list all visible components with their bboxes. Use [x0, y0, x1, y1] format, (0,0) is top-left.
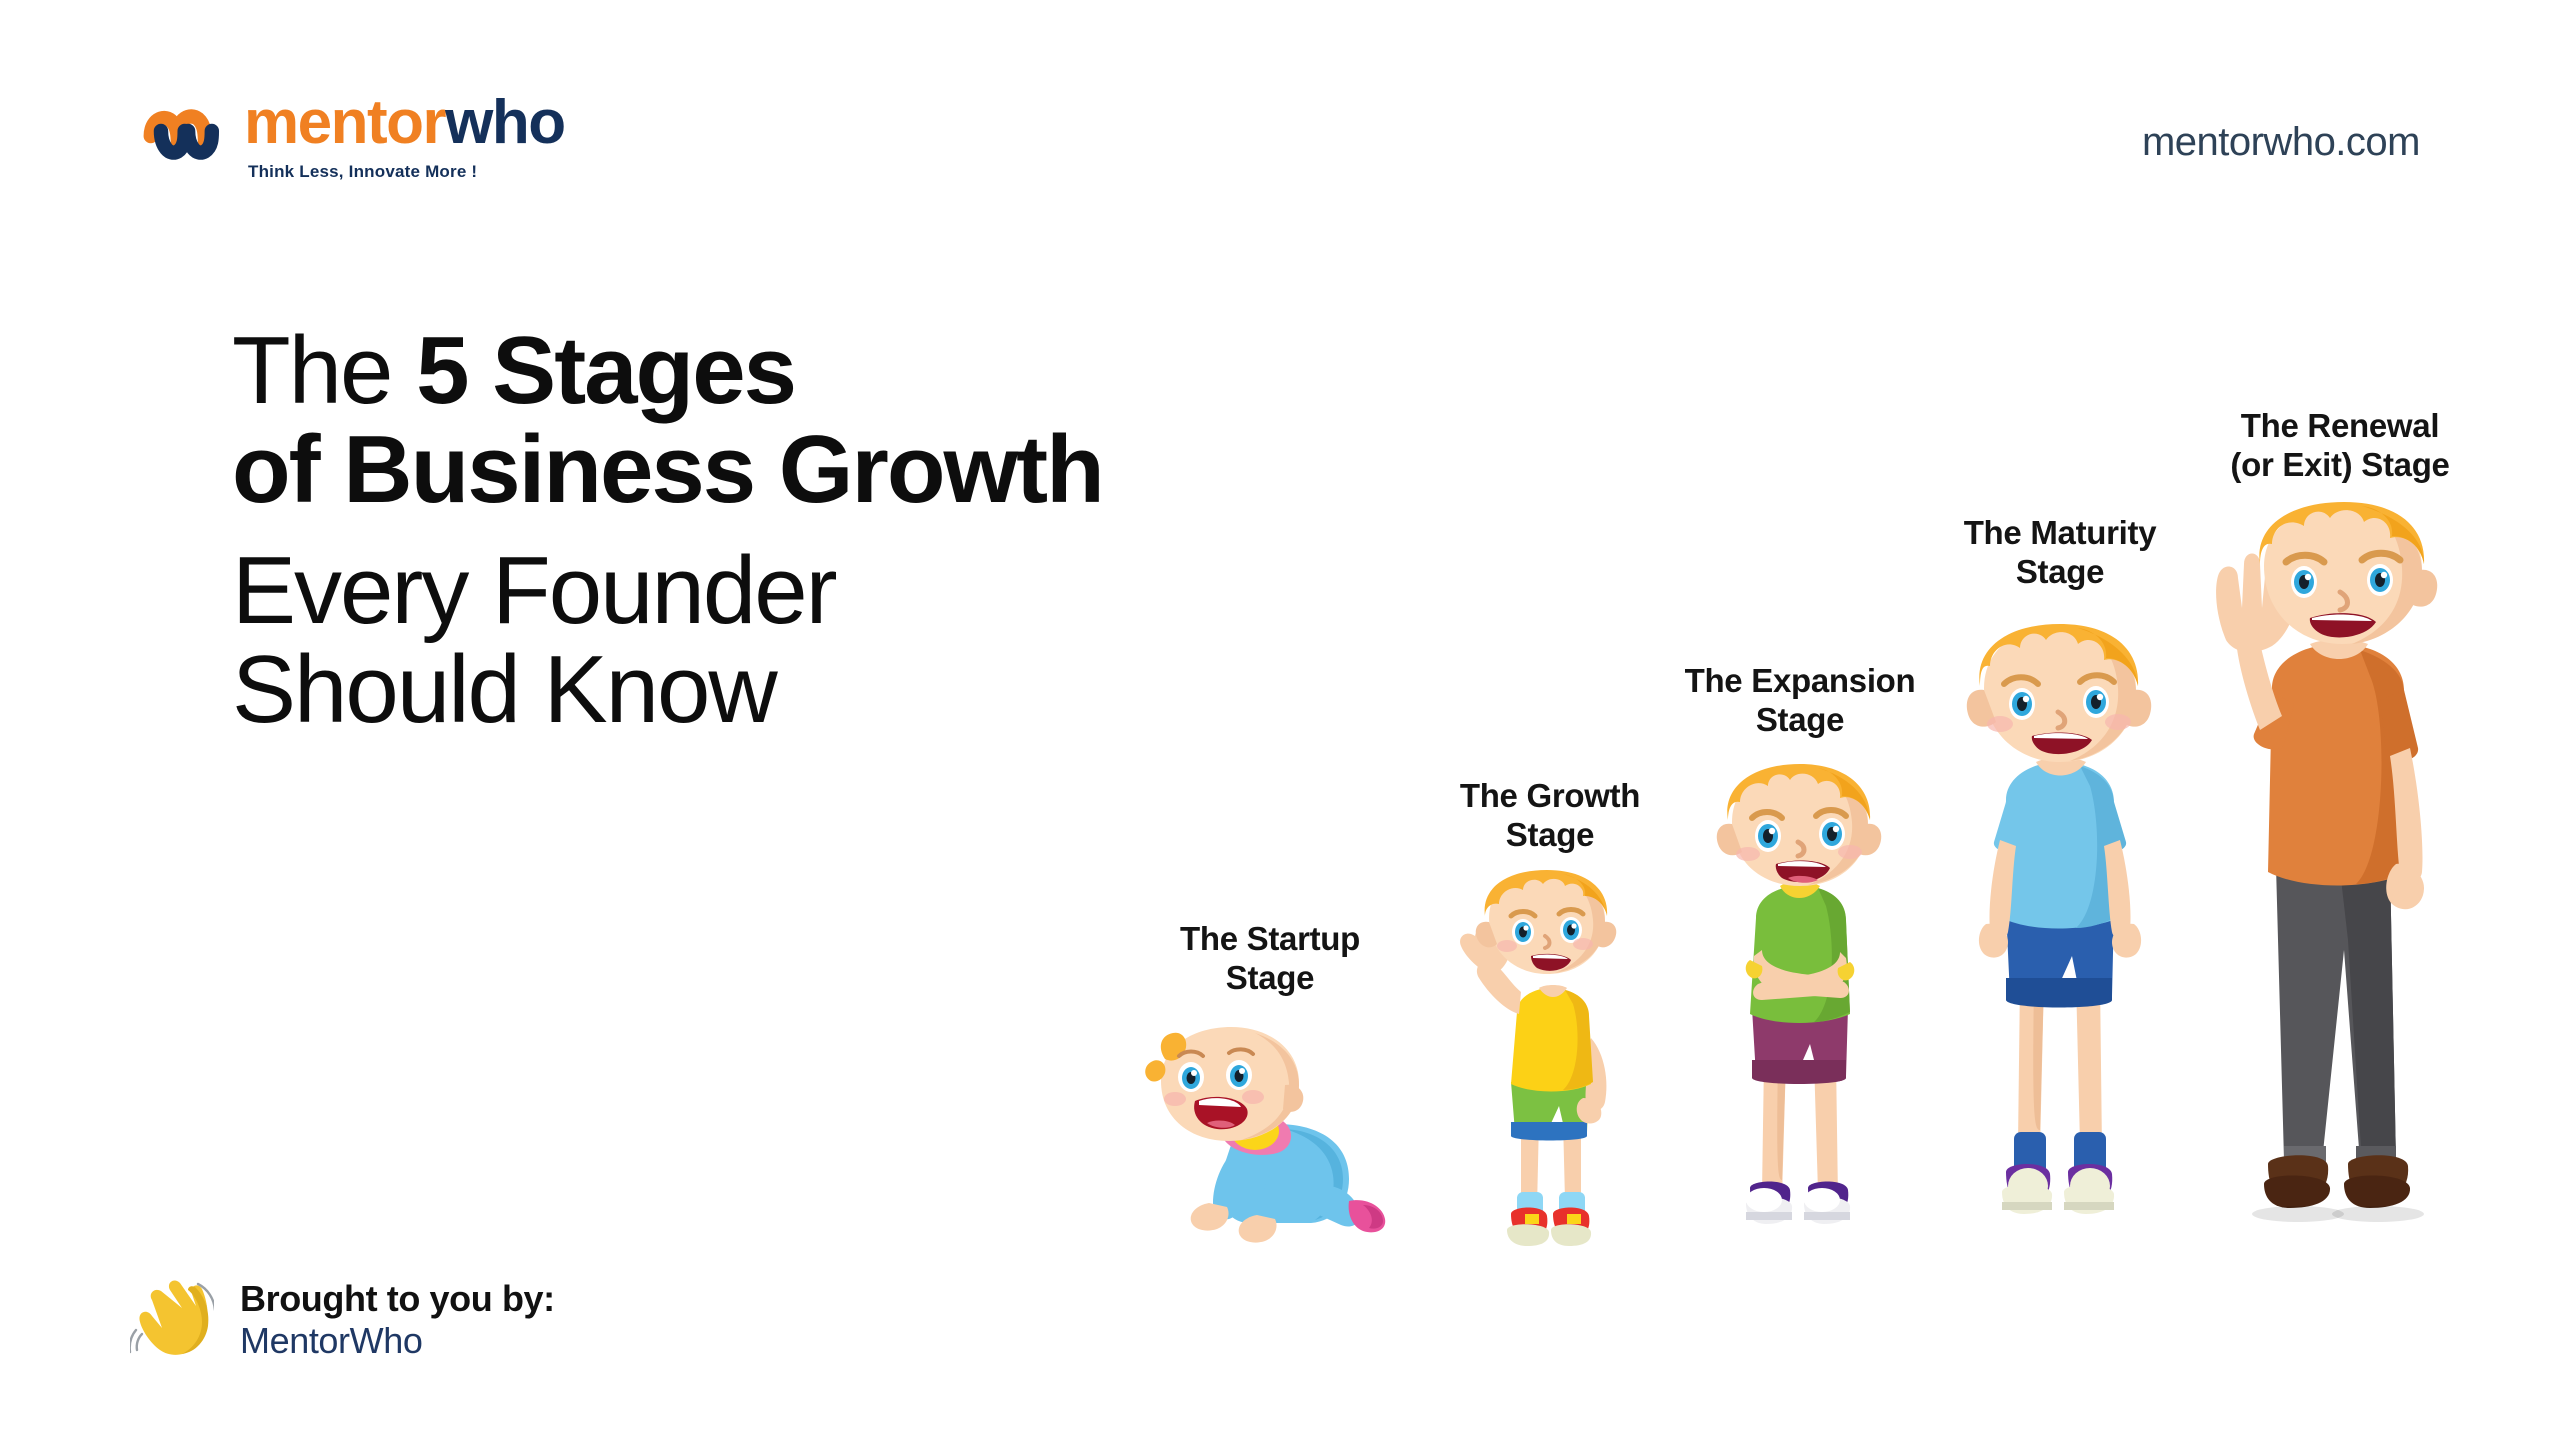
headline-line-1-plain: The [232, 317, 416, 424]
poster-canvas: mentorwho Think Less, Innovate More ! me… [0, 0, 2560, 1440]
footer-credit: Brought to you by: MentorWho [130, 1278, 555, 1363]
stage-label-line-2: (or Exit) Stage [2230, 446, 2449, 485]
stage-label-line-2: Stage [1685, 701, 1916, 740]
stage-label-line-1: The Growth [1460, 777, 1640, 816]
figure-crawling-baby [1135, 1025, 1405, 1260]
brand-word-who: who [445, 88, 564, 157]
brand-word-mentor: mentor [244, 88, 445, 157]
stage-label-line-2: Stage [1460, 816, 1640, 855]
stage-label-line-1: The Maturity [1964, 514, 2157, 553]
brand-word: mentorwho [244, 92, 565, 154]
stage-label-maturity: The Maturity Stage [1964, 514, 2157, 592]
stage-label-line-1: The Startup [1180, 920, 1360, 959]
mentorwho-knot-icon [140, 97, 226, 175]
stage-item-startup: The Startup Stage [1120, 970, 1420, 1260]
stage-item-renewal: The Renewal (or Exit) Stage [2180, 460, 2500, 1260]
figure-adult-waving [2210, 500, 2470, 1260]
figure-child-arms-crossed [1700, 760, 1900, 1260]
stage-label-renewal: The Renewal (or Exit) Stage [2230, 407, 2449, 485]
stage-label-startup: The Startup Stage [1180, 920, 1360, 998]
footer-text: Brought to you by: MentorWho [240, 1278, 555, 1363]
brand-wordmark: mentorwho Think Less, Innovate More ! [244, 92, 565, 180]
stage-label-line-1: The Renewal [2230, 407, 2449, 446]
stage-label-growth: The Growth Stage [1460, 777, 1640, 855]
stage-item-growth: The Growth Stage [1410, 830, 1690, 1260]
brand-tagline: Think Less, Innovate More ! [248, 163, 565, 180]
brand-logo[interactable]: mentorwho Think Less, Innovate More ! [140, 92, 565, 180]
headline-line-1-strong: 5 Stages [416, 317, 795, 424]
figure-teen-standing [1950, 620, 2170, 1260]
footer-brand-name: MentorWho [240, 1320, 555, 1362]
stage-item-maturity: The Maturity Stage [1910, 570, 2210, 1260]
stage-label-line-2: Stage [1180, 959, 1360, 998]
stage-item-expansion: The Expansion Stage [1660, 720, 1940, 1260]
figure-toddler-waving [1455, 870, 1645, 1260]
stage-label-expansion: The Expansion Stage [1685, 662, 1916, 740]
growth-stages-illustration: The Startup Stage [1080, 150, 2500, 1260]
stage-label-line-1: The Expansion [1685, 662, 1916, 701]
waving-hand-emoji [130, 1278, 214, 1362]
stage-label-line-2: Stage [1964, 553, 2157, 592]
footer-brought-by: Brought to you by: [240, 1278, 555, 1320]
